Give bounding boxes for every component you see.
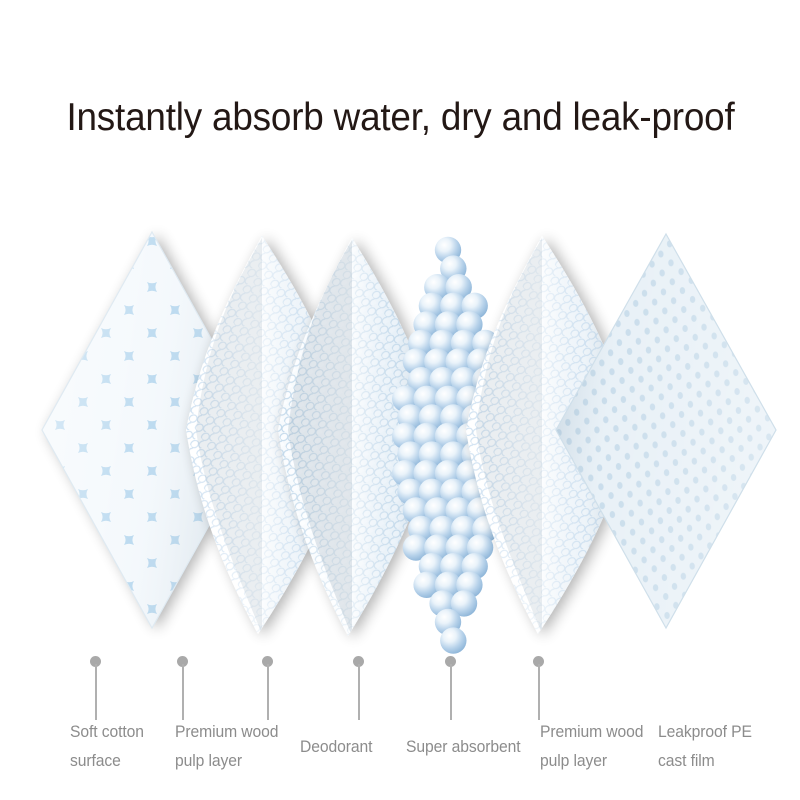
callout-label-5: Premium wood pulp layer [540,718,643,776]
label-line: Leakproof PE [658,718,752,747]
product-layer-infographic: Instantly absorb water, dry and leak-pro… [0,0,800,800]
callout-label-3: Deodorant [300,733,372,762]
label-line: cast film [658,747,752,776]
callout-label-1: Soft cotton surface [70,718,144,776]
label-line: pulp layer [540,747,643,776]
label-line: Premium wood [175,718,278,747]
label-line: Premium wood [540,718,643,747]
label-line: pulp layer [175,747,278,776]
label-line: Super absorbent [406,733,520,762]
label-line: Soft cotton [70,718,144,747]
label-line: Deodorant [300,733,372,762]
callout-labels: Soft cotton surface Premium wood pulp la… [0,0,800,800]
callout-label-6: Leakproof PE cast film [658,718,752,776]
callout-label-4: Super absorbent [406,733,520,762]
label-line: surface [70,747,144,776]
callout-label-2: Premium wood pulp layer [175,718,278,776]
